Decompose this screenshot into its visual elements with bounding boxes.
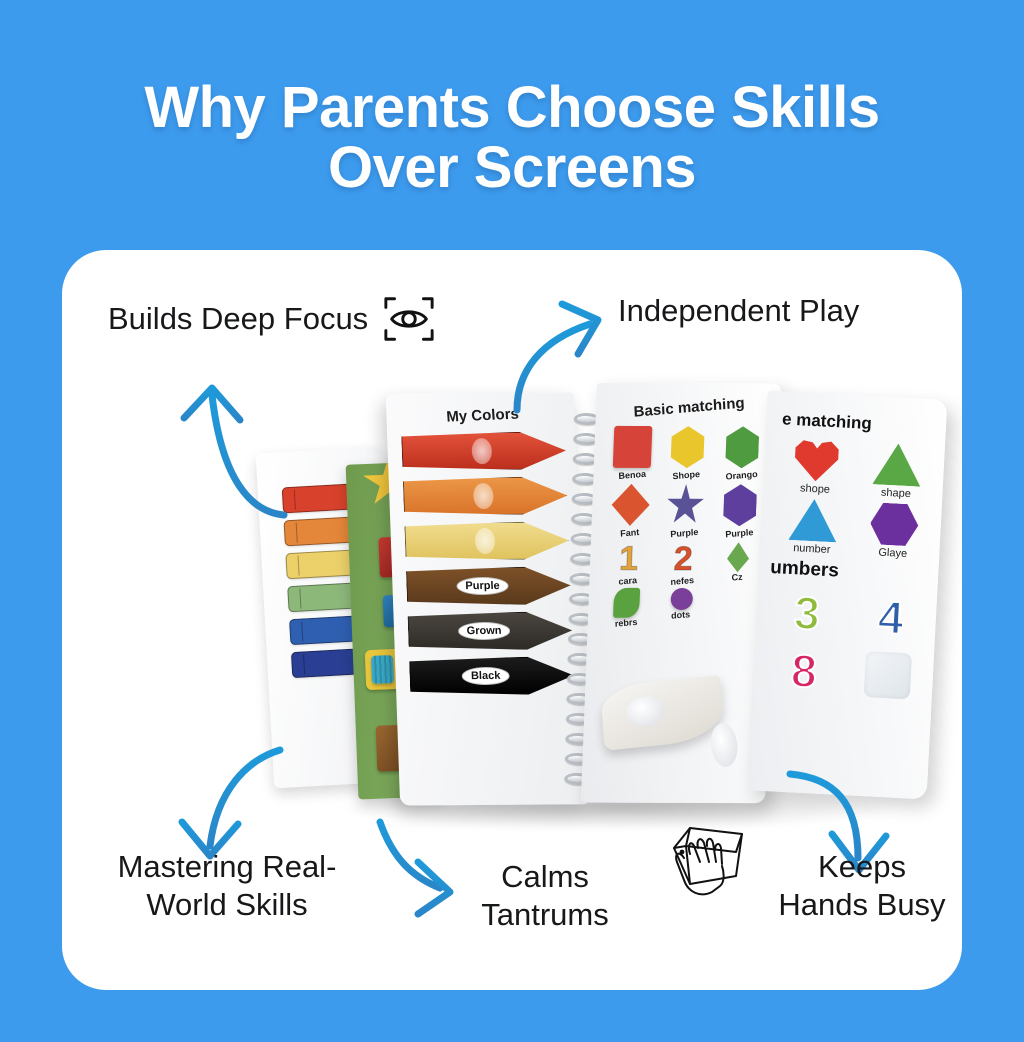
basic-number-grid: 1 cara 2 nefes Cz rebrs <box>600 542 765 629</box>
hexagon-shape <box>668 426 708 468</box>
shape-cell: Benoa <box>605 426 660 480</box>
hexagon-shape <box>720 484 760 526</box>
feature-label-mastering-real-world-skills: Mastering Real- World Skills <box>82 848 372 924</box>
crayon-label: Black <box>462 667 510 685</box>
number-cell: 1 cara <box>601 542 655 586</box>
product-page-my-colors: My Colors Purple Grown <box>386 392 588 805</box>
calms-line-2: Tantrums <box>481 897 608 932</box>
crayon-list: Purple Grown Black <box>401 432 574 696</box>
feature-label-builds-deep-focus: Builds Deep Focus <box>108 292 436 346</box>
number-glyph: 1 <box>618 542 638 576</box>
independent-play-text: Independent Play <box>618 293 859 328</box>
number-cell: 3 <box>771 583 844 643</box>
number-label: cara <box>618 575 637 587</box>
numbers-section-title: umbers <box>770 557 929 587</box>
crayon-item: Purple <box>406 566 571 605</box>
number-cell: dots <box>654 588 708 628</box>
crayon-item <box>404 521 569 560</box>
heart-shape <box>792 438 840 482</box>
hexagon-shape <box>722 426 762 468</box>
title-line-1: Why Parents Choose Skills <box>144 75 879 140</box>
crayon-item: Black <box>409 656 574 695</box>
lift-flap[interactable] <box>600 675 724 751</box>
crayon-item: Grown <box>407 611 572 650</box>
number-glyph: 3 <box>793 589 821 636</box>
number-label: rebrs <box>615 617 638 629</box>
calms-line-1: Calms <box>501 859 589 894</box>
buckle-teal <box>371 655 394 684</box>
keeps-line-1: Keeps <box>818 849 906 884</box>
mastering-line-1: Mastering Real- <box>118 849 337 884</box>
number-cell <box>851 645 924 705</box>
triangle-shape <box>872 442 922 486</box>
shape-grid: Benoa Shope Orango Fant <box>603 426 769 538</box>
crayon-label: Grown <box>457 622 510 640</box>
number-cell: rebrs <box>600 588 654 628</box>
leaf-shape <box>613 588 640 618</box>
title-line-2: Over Screens <box>0 138 1024 198</box>
dot-shape <box>670 588 693 610</box>
poster-root: Why Parents Choose Skills Over Screens M… <box>0 0 1024 1042</box>
shape-label: shape <box>881 487 912 501</box>
square-shape <box>613 426 653 468</box>
focus-eye-icon <box>382 292 436 346</box>
shape-cell: shope <box>778 437 854 497</box>
shape-cell: Glaye <box>856 501 932 561</box>
number-glyph: 8 <box>790 647 818 694</box>
content-card: My My Colo <box>62 250 962 990</box>
feature-label-independent-play: Independent Play <box>618 292 859 330</box>
product-photo: My My Colo <box>197 355 837 825</box>
number-glyph: 4 <box>877 594 905 641</box>
number-label: dots <box>671 609 690 621</box>
shape-label: Fant <box>620 527 639 539</box>
shape-cell: Shope <box>660 426 715 480</box>
right-page-title: e matching <box>782 409 937 437</box>
builds-deep-focus-text: Builds Deep Focus <box>108 300 368 338</box>
velcro-patch <box>475 528 496 554</box>
mastering-line-2: World Skills <box>146 887 307 922</box>
shape-label: shope <box>800 482 831 496</box>
velcro-patch <box>471 438 492 464</box>
velcro-patch <box>473 483 494 509</box>
shape-cell: Purple <box>658 484 713 538</box>
number-cell: 8 <box>768 641 841 701</box>
curved-arrow-down-right <box>380 822 450 914</box>
colors-page-title: My Colors <box>400 404 565 428</box>
diamond-shape <box>611 484 651 526</box>
keeps-line-2: Hands Busy <box>778 887 945 922</box>
crayon-item <box>401 432 566 471</box>
velcro-dot <box>625 695 665 729</box>
shape-label: Purple <box>725 527 754 539</box>
crayon-item <box>403 476 568 515</box>
shape-label: Benoa <box>618 469 646 481</box>
shape-cell: Fant <box>603 484 658 538</box>
shape-cell: Orango <box>715 426 770 480</box>
product-page-right-matching: e matching shope shape number <box>747 391 948 800</box>
shape-cell: shape <box>859 442 935 502</box>
shape-label: Shope <box>673 469 701 481</box>
shape-label: number <box>793 542 831 556</box>
shape-label: Orango <box>725 469 758 482</box>
feature-label-keeps-hands-busy: Keeps Hands Busy <box>752 848 962 924</box>
right-number-grid: 3 4 8 <box>768 583 928 705</box>
crayon-label: Purple <box>456 577 509 595</box>
basic-page-title: Basic matching <box>608 392 771 422</box>
empty-velcro-patch[interactable] <box>864 651 912 699</box>
triangle-shape <box>788 498 838 542</box>
number-cell: 2 nefes <box>656 542 710 586</box>
number-cell: 4 <box>854 588 927 648</box>
shape-cell: number <box>775 497 851 557</box>
page-title: Why Parents Choose Skills Over Screens <box>0 78 1024 198</box>
leaf-shape <box>726 542 749 572</box>
shape-label: Glaye <box>878 547 907 560</box>
number-label: Cz <box>732 572 743 583</box>
shape-cell: Purple <box>712 484 767 538</box>
hand-cloth-icon <box>660 820 752 910</box>
star-shape <box>666 484 706 526</box>
shape-label: Purple <box>670 527 699 539</box>
velcro-dot <box>708 721 740 769</box>
feature-label-calms-tantrums: Calms Tantrums <box>450 858 640 934</box>
hexagon-shape <box>869 502 919 546</box>
number-label: nefes <box>670 575 694 587</box>
number-glyph: 2 <box>673 542 693 576</box>
right-shape-grid: shope shape number Glaye <box>775 437 935 561</box>
